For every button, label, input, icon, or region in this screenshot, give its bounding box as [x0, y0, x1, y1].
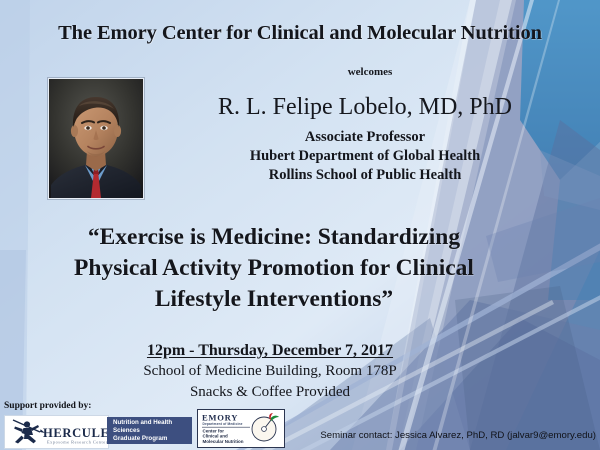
nhs-logo-line-2: Graduate Program — [113, 435, 192, 443]
nutrition-health-sciences-logo: Nutrition and Health Sciences Graduate P… — [107, 417, 192, 444]
talk-title-line-3: Lifestyle Interventions” — [14, 284, 534, 315]
event-logistics: 12pm - Thursday, December 7, 2017 School… — [30, 340, 510, 403]
hercules-logo: HERCULES Exposome Research Center — [4, 415, 109, 449]
support-provided-label: Support provided by: — [4, 401, 91, 411]
talk-title-line-1: “Exercise is Medicine: Standardizing — [14, 222, 534, 253]
talk-title-line-2: Physical Activity Promotion for Clinical — [14, 253, 534, 284]
event-location: School of Medicine Building, Room 178P — [30, 361, 510, 382]
speaker-affiliation-department: Hubert Department of Global Health — [150, 147, 580, 166]
seminar-contact: Seminar contact: Jessica Alvarez, PhD, R… — [300, 430, 596, 441]
emory-unit-label: Department of Medicine — [203, 422, 243, 426]
hercules-wordmark: HERCULES — [43, 426, 108, 440]
speaker-name: R. L. Felipe Lobelo, MD, PhD — [150, 94, 580, 121]
seminar-flyer-slide: The Emory Center for Clinical and Molecu… — [0, 0, 600, 450]
speaker-affiliations: Associate Professor Hubert Department of… — [150, 128, 580, 185]
talk-title: “Exercise is Medicine: Standardizing Phy… — [14, 222, 534, 315]
event-refreshments: Snacks & Coffee Provided — [30, 382, 510, 403]
speaker-photo — [48, 78, 144, 199]
emory-center-line-3: Molecular Nutrition — [203, 439, 244, 444]
speaker-affiliation-title: Associate Professor — [150, 128, 580, 147]
event-datetime: 12pm - Thursday, December 7, 2017 — [30, 340, 510, 361]
speaker-affiliation-school: Rollins School of Public Health — [150, 166, 580, 185]
emory-wordmark: EMORY — [202, 413, 238, 423]
emory-ccmn-logo: EMORY Department of Medicine Center for … — [197, 409, 285, 448]
hercules-tagline: Exposome Research Center — [47, 440, 108, 445]
welcomes-label: welcomes — [160, 66, 580, 78]
page-title: The Emory Center for Clinical and Molecu… — [0, 22, 600, 45]
nhs-logo-line-1: Nutrition and Health Sciences — [113, 419, 192, 435]
